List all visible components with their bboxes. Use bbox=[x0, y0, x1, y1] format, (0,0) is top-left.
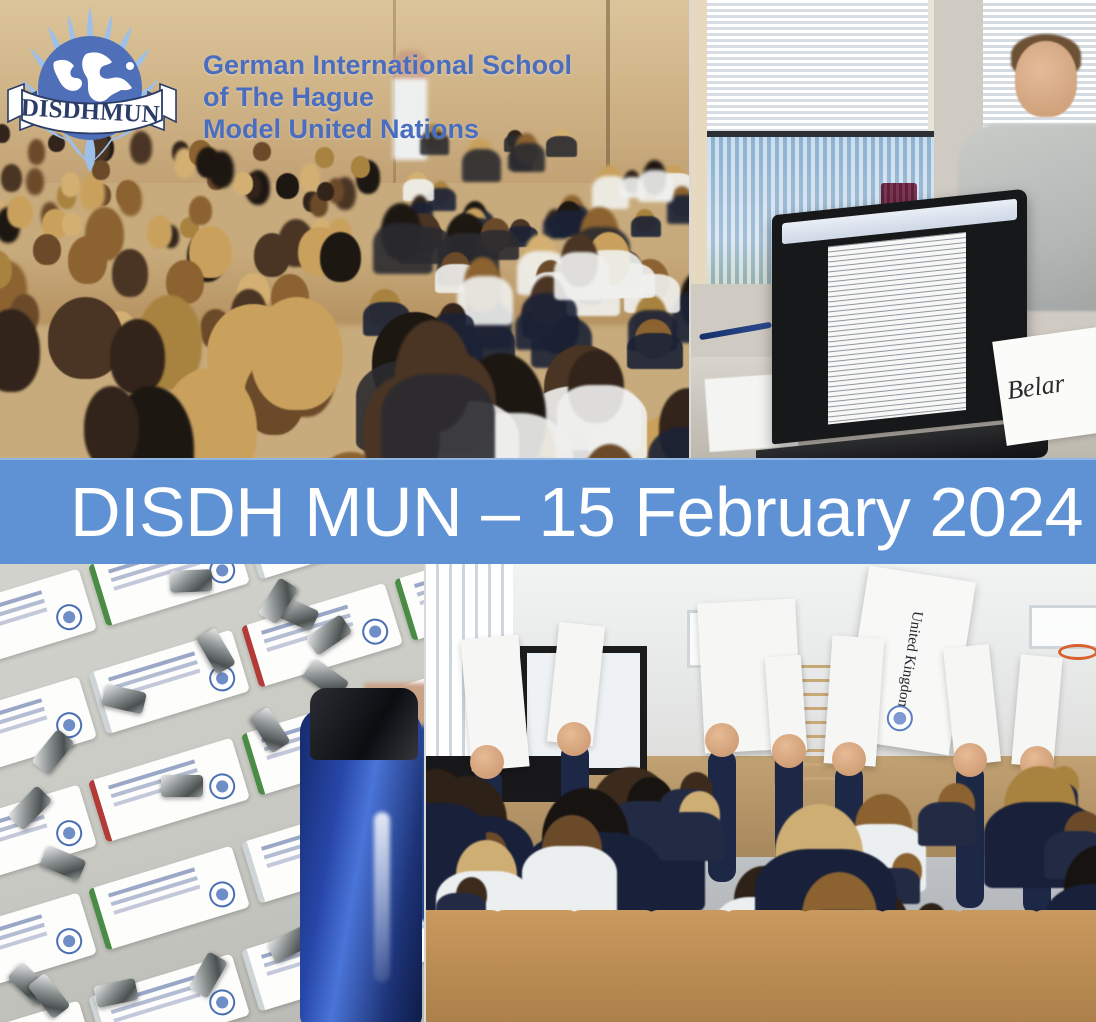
organisation-title-line1: German International School bbox=[203, 50, 572, 82]
poster-root: Belar United Kingdom bbox=[0, 0, 1096, 1022]
crowd-front-row bbox=[0, 284, 689, 458]
water-bottle-cap bbox=[310, 688, 418, 760]
badge-clip bbox=[161, 775, 203, 797]
organisation-title-line2: of The Hague bbox=[203, 82, 572, 114]
crowd-head bbox=[110, 319, 165, 394]
organisation-title: German International School of The Hague… bbox=[203, 50, 572, 146]
laptop-document bbox=[828, 231, 966, 424]
crowd-head bbox=[254, 233, 290, 277]
disdhmun-globe-logo: DISDHMUN bbox=[2, 4, 182, 174]
crowd-head bbox=[320, 232, 361, 282]
wooden-chair bbox=[1029, 910, 1096, 1022]
crowd-head bbox=[68, 236, 107, 284]
pen bbox=[699, 322, 772, 341]
country-placard-belarus-label: Belar bbox=[1005, 368, 1066, 406]
crowd-shoulders bbox=[511, 143, 545, 172]
audience-shoulders bbox=[522, 846, 617, 917]
speaker-head bbox=[1015, 41, 1077, 117]
organisation-title-line3: Model United Nations bbox=[203, 114, 572, 146]
window-frame bbox=[707, 131, 934, 137]
hand bbox=[705, 723, 739, 757]
name-badge bbox=[88, 846, 250, 951]
photo-name-badges bbox=[0, 564, 424, 1022]
crowd-shoulders bbox=[462, 149, 501, 182]
laptop bbox=[772, 188, 1027, 444]
crowd-head bbox=[315, 147, 334, 168]
name-badge bbox=[241, 564, 403, 580]
crowd-head bbox=[209, 151, 234, 188]
hand bbox=[772, 734, 806, 768]
crowd-shoulders bbox=[381, 374, 495, 458]
crowd-head bbox=[61, 172, 81, 197]
crowd-head bbox=[251, 297, 343, 410]
country-placard-belarus: Belar bbox=[992, 328, 1096, 447]
event-title: DISDH MUN – 15 February 2024 bbox=[0, 477, 1083, 547]
badge-clip bbox=[170, 569, 213, 592]
bottle-highlight bbox=[374, 812, 390, 982]
crowd-head bbox=[33, 234, 61, 265]
photo-laptop-speaker: Belar bbox=[691, 0, 1096, 458]
photo-placards-raised: United Kingdom bbox=[426, 564, 1096, 1022]
hand bbox=[557, 722, 591, 756]
title-banner: DISDH MUN – 15 February 2024 bbox=[0, 458, 1096, 564]
basketball-hoop-right bbox=[1029, 605, 1096, 649]
crowd-shoulders bbox=[557, 385, 641, 450]
crowd-head bbox=[317, 182, 334, 201]
hand bbox=[832, 742, 866, 776]
crowd-shoulders bbox=[638, 170, 673, 202]
crowd-head bbox=[300, 163, 320, 191]
country-placard-united-kingdom-label: United Kingdom bbox=[892, 609, 925, 712]
hand bbox=[953, 743, 987, 777]
audience-shoulders bbox=[659, 812, 724, 861]
crowd-head bbox=[351, 156, 371, 178]
crowd-head bbox=[233, 172, 254, 195]
name-badge bbox=[0, 568, 97, 673]
crowd-head bbox=[0, 309, 40, 392]
audience-shoulders bbox=[918, 802, 977, 846]
crowd-shoulders bbox=[373, 223, 432, 275]
crowd-head bbox=[276, 173, 300, 199]
crowd-shoulders bbox=[475, 230, 519, 260]
